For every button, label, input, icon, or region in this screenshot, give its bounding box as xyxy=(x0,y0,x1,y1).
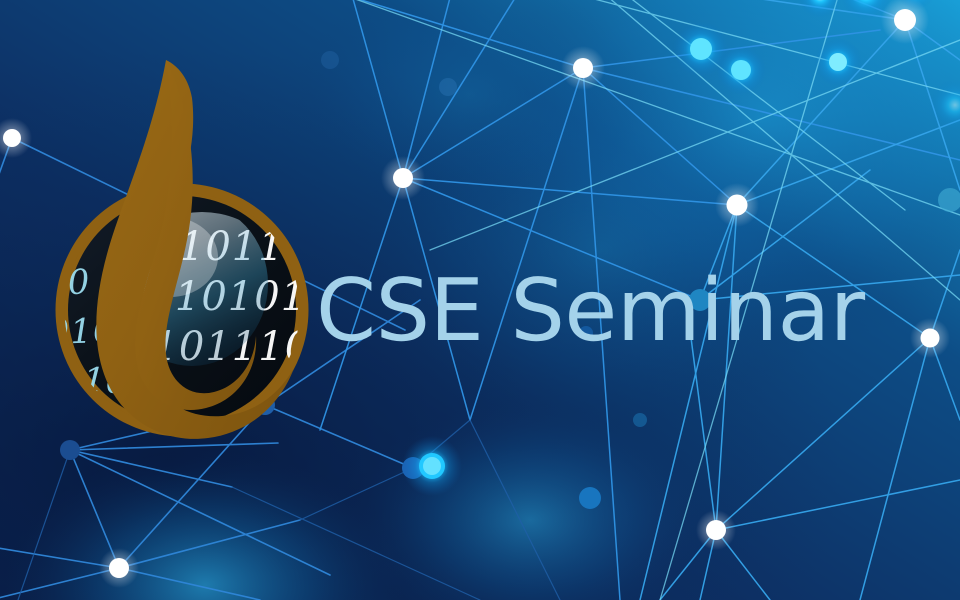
network-node xyxy=(894,9,916,31)
page-title: CSE Seminar xyxy=(316,262,865,361)
network-node xyxy=(439,78,457,96)
network-node xyxy=(727,195,748,216)
network-node xyxy=(633,413,647,427)
network-node xyxy=(393,168,413,188)
glow-dot xyxy=(929,79,960,131)
network-node xyxy=(706,520,726,540)
cse-flame-binary-sphere-logo: 11 10 10 010 010 01010 111 1010110 00101… xyxy=(42,52,322,452)
network-node xyxy=(579,487,601,509)
network-node xyxy=(573,58,593,78)
seminar-banner: 11 10 10 010 010 01010 111 1010110 00101… xyxy=(0,0,960,600)
network-node xyxy=(321,51,339,69)
glow-dot xyxy=(798,0,842,18)
network-node xyxy=(3,129,21,147)
network-node xyxy=(109,558,129,578)
network-node xyxy=(921,329,940,348)
